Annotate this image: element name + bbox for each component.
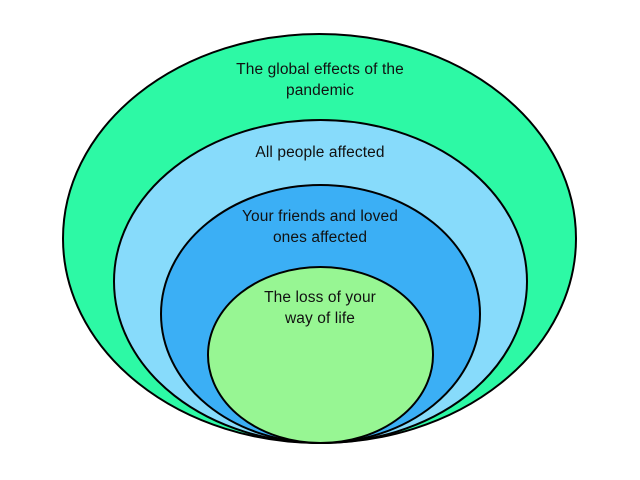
- ring-label-second: All people affected: [200, 143, 440, 164]
- ring-label-third: Your friends and loved ones affected: [205, 207, 435, 248]
- diagram-canvas: The global effects of the pandemic All p…: [0, 0, 640, 480]
- ring-label-inner: The loss of your way of life: [240, 288, 400, 329]
- ring-label-outer: The global effects of the pandemic: [180, 60, 460, 101]
